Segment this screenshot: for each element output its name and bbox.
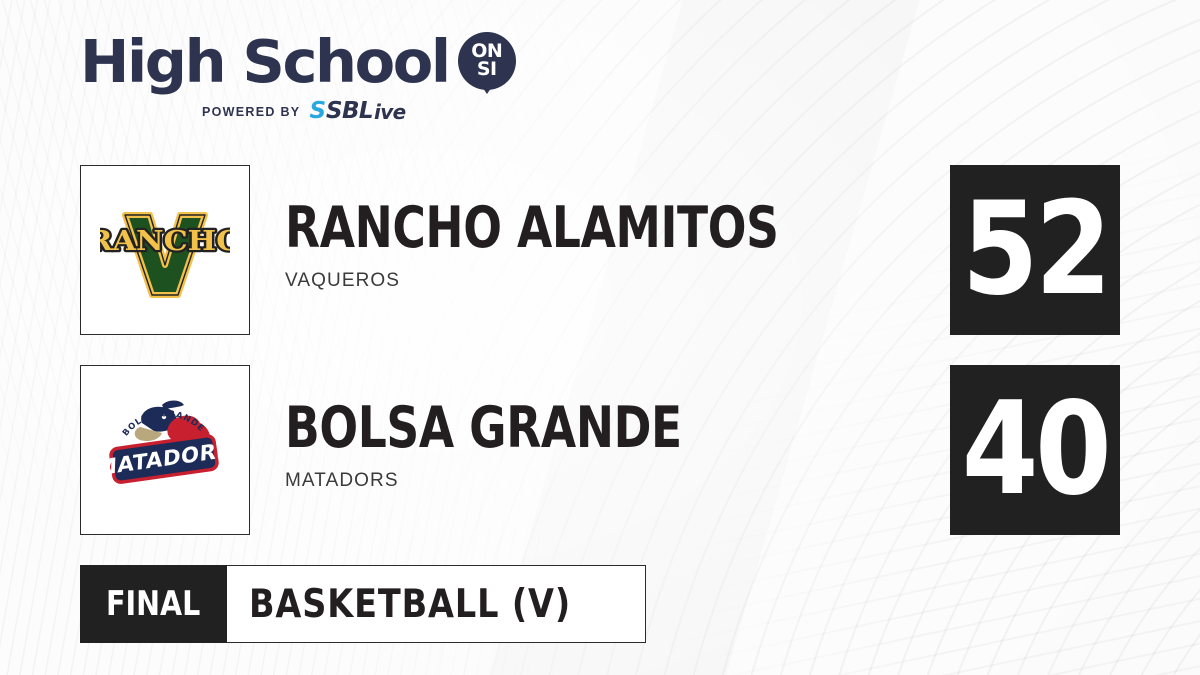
sblive-wordmark: SBL bbox=[326, 100, 373, 123]
powered-by-label: POWERED BY bbox=[202, 105, 300, 119]
sport-label-panel: BASKETBALL (V) bbox=[227, 565, 646, 643]
team-mascot: VAQUEROS bbox=[285, 270, 985, 292]
team-name: RANCHO ALAMITOS bbox=[285, 201, 845, 256]
team-logo-container: RANCHO RANCHO bbox=[80, 165, 250, 335]
team-info: RANCHO ALAMITOS VAQUEROS bbox=[285, 201, 985, 292]
team-logo-container: BOLSA GRANDE MATADORS bbox=[80, 365, 250, 535]
sblive-wordmark-tail: ive bbox=[374, 102, 406, 122]
bolsa-grande-matadors-logo: BOLSA GRANDE MATADORS bbox=[98, 383, 232, 517]
status-badge-label: FINAL bbox=[106, 584, 200, 624]
status-badge: FINAL bbox=[80, 565, 227, 643]
on-si-pin-icon: ON SI bbox=[458, 32, 516, 90]
rancho-alamitos-vaqueros-logo: RANCHO RANCHO bbox=[100, 185, 230, 315]
powered-by-row: POWERED BY S SBL ive bbox=[202, 100, 516, 123]
team-score: 40 bbox=[962, 386, 1108, 514]
team-info: BOLSA GRANDE MATADORS bbox=[285, 401, 985, 492]
team-score-box: 40 bbox=[950, 365, 1120, 535]
sblive-s-icon: S bbox=[309, 100, 325, 123]
brand-wordmark: High School bbox=[80, 32, 449, 91]
team-mascot: MATADORS bbox=[285, 470, 985, 492]
pin-label-group: ON SI bbox=[458, 32, 516, 90]
team-score-box: 52 bbox=[950, 165, 1120, 335]
brand-lockup: High School ON SI POWERED BY S SBL ive bbox=[80, 32, 516, 123]
brand-title-row: High School ON SI bbox=[80, 32, 516, 91]
svg-text:RANCHO: RANCHO bbox=[100, 225, 230, 257]
game-status-bar: FINAL BASKETBALL (V) bbox=[80, 565, 646, 643]
scoreboard-graphic: High School ON SI POWERED BY S SBL ive bbox=[0, 0, 1200, 675]
sport-label: BASKETBALL (V) bbox=[249, 582, 571, 627]
pin-label-si: SI bbox=[477, 61, 497, 78]
team-name: BOLSA GRANDE bbox=[285, 401, 845, 456]
sblive-logo: S SBL ive bbox=[309, 100, 405, 123]
team-score: 52 bbox=[962, 186, 1108, 314]
